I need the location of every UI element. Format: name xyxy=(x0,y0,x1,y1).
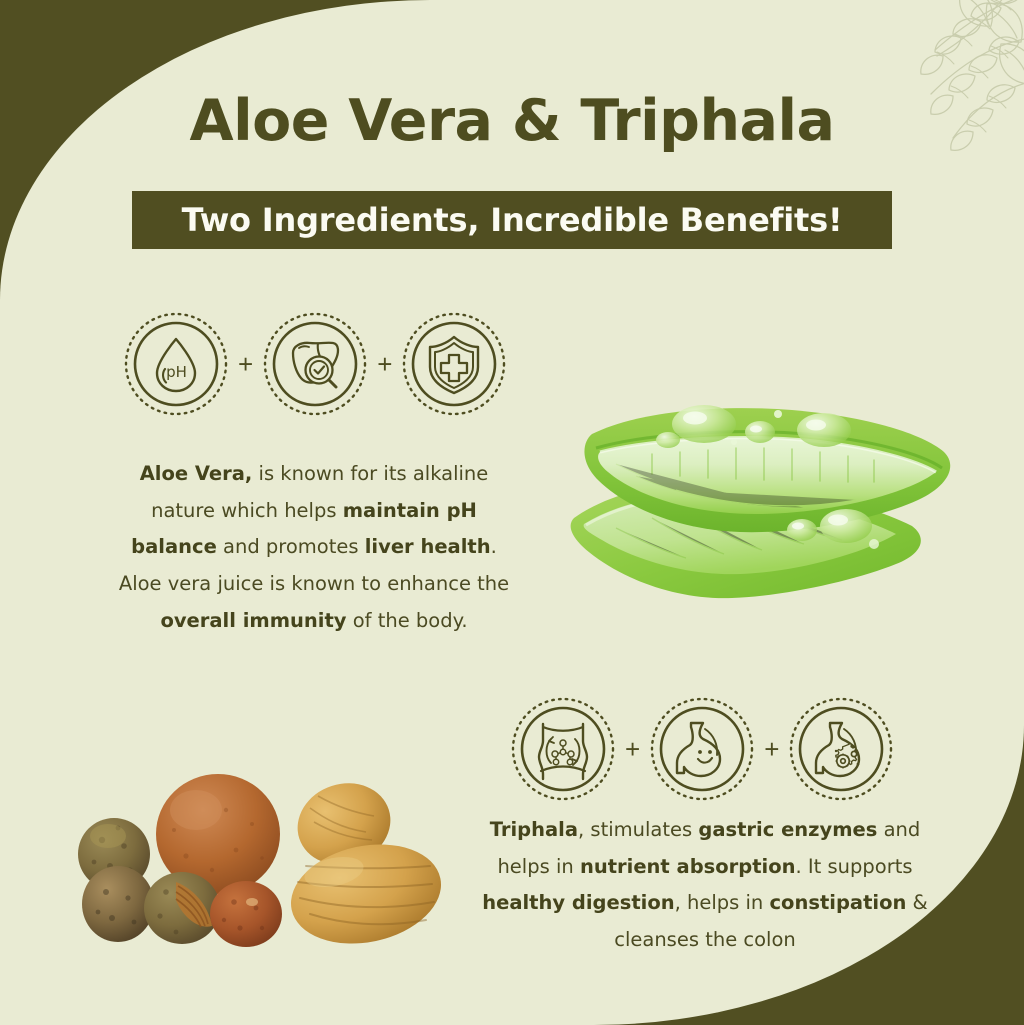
emphasis-text: gastric enzymes xyxy=(698,818,877,841)
body-text: and promotes xyxy=(217,535,365,558)
body-text: . xyxy=(491,535,497,558)
subtitle-text: Two Ingredients, Incredible Benefits! xyxy=(182,201,843,239)
paragraph-line: overall immunity of the body. xyxy=(104,603,524,640)
paragraph-line: healthy digestion, helps in constipation… xyxy=(468,885,942,922)
triphala-description-paragraph: Triphala, stimulates gastric enzymes and… xyxy=(468,812,942,959)
body-text: helps in xyxy=(497,855,580,878)
body-text: nature which helps xyxy=(151,499,343,522)
body-text: cleanses the colon xyxy=(614,928,796,951)
emphasis-text: overall immunity xyxy=(160,609,346,632)
emphasis-text: healthy digestion xyxy=(482,891,674,914)
paragraph-line: Aloe Vera, is known for its alkaline xyxy=(104,456,524,493)
liver-magnifier-check-icon xyxy=(263,312,367,416)
body-text: , stimulates xyxy=(578,818,698,841)
shield-medical-cross-icon xyxy=(402,312,506,416)
paragraph-line: balance and promotes liver health. xyxy=(104,529,524,566)
body-text: of the body. xyxy=(347,609,468,632)
ph-droplet-icon: pH xyxy=(124,312,228,416)
body-text: and xyxy=(877,818,920,841)
stomach-gears-icon xyxy=(789,697,893,801)
body-text: , helps in xyxy=(675,891,770,914)
paragraph-line: Triphala, stimulates gastric enzymes and xyxy=(468,812,942,849)
aloe-vera-leaves-photo xyxy=(556,348,960,620)
aloe-description-paragraph: Aloe Vera, is known for its alkalinenatu… xyxy=(104,456,524,639)
icon-separator-plus: + xyxy=(377,351,392,377)
icon-separator-plus: + xyxy=(625,736,640,762)
paragraph-line: Aloe vera juice is known to enhance the xyxy=(104,566,524,603)
infographic-poster: Aloe Vera & Triphala Two Ingredients, In… xyxy=(0,0,1024,1025)
emphasis-text: balance xyxy=(131,535,217,558)
paragraph-line: nature which helps maintain pH xyxy=(104,493,524,530)
page-title: Aloe Vera & Triphala xyxy=(0,92,1024,152)
triphala-fruits-photo xyxy=(66,766,454,952)
body-text: Aloe vera juice is known to enhance the xyxy=(119,572,509,595)
svg-text:pH: pH xyxy=(166,363,187,381)
stomach-smile-icon xyxy=(650,697,754,801)
body-text: is known for its alkaline xyxy=(252,462,488,485)
emphasis-text: maintain pH xyxy=(343,499,477,522)
emphasis-text: liver health xyxy=(365,535,491,558)
aloe-icon-row: pH + + xyxy=(124,312,506,416)
emphasis-text: constipation xyxy=(770,891,907,914)
body-text: & xyxy=(906,891,927,914)
emphasis-text: Triphala xyxy=(490,818,578,841)
subtitle-banner: Two Ingredients, Incredible Benefits! xyxy=(132,191,892,249)
body-text: . It supports xyxy=(796,855,913,878)
icon-separator-plus: + xyxy=(238,351,253,377)
triphala-icon-row: + + xyxy=(511,697,893,801)
abdomen-enzymes-icon xyxy=(511,697,615,801)
icon-separator-plus: + xyxy=(764,736,779,762)
paragraph-line: cleanses the colon xyxy=(468,922,942,959)
emphasis-text: Aloe Vera, xyxy=(140,462,253,485)
emphasis-text: nutrient absorption xyxy=(580,855,796,878)
paragraph-line: helps in nutrient absorption. It support… xyxy=(468,849,942,886)
